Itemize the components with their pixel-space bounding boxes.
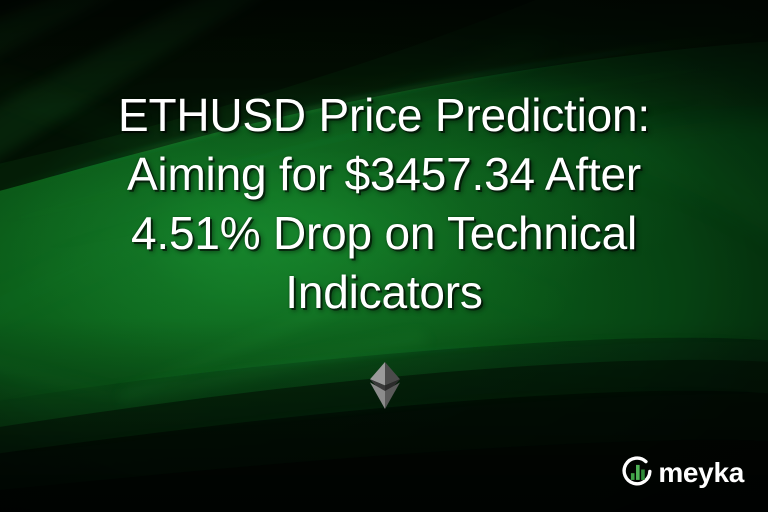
headline-line-3: 4.51% Drop on Technical (26, 204, 742, 263)
headline-line-1: ETHUSD Price Prediction: (26, 86, 742, 145)
ethereum-logo-icon (370, 362, 400, 409)
headline-line-4: Indicators (26, 263, 742, 322)
headline-line-2: Aiming for $3457.34 After (26, 145, 742, 204)
meyka-brand-name: meyka (658, 459, 744, 487)
article-banner: ETHUSD Price Prediction: Aiming for $345… (0, 0, 768, 512)
meyka-brand-logo[interactable]: meyka (621, 455, 744, 488)
headline-title: ETHUSD Price Prediction: Aiming for $345… (0, 86, 768, 322)
meyka-circle-bars-icon (621, 455, 654, 488)
